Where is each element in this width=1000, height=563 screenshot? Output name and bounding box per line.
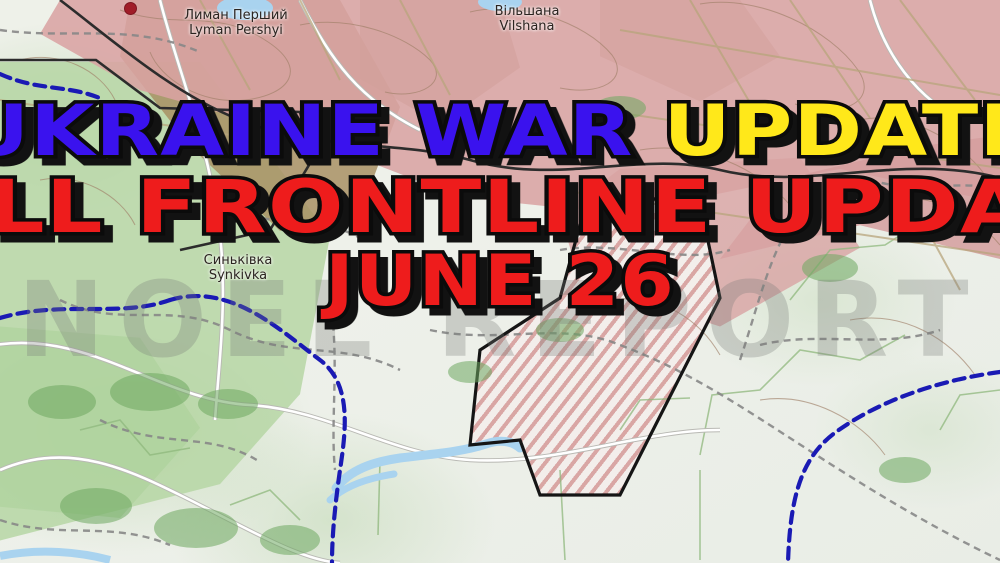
map-label-vilshana-cyrillic: Вільшана xyxy=(462,4,592,19)
map-label-synkivka-latin: Synkivka xyxy=(168,268,308,283)
map-label-lyman-pershyi-latin: Lyman Pershyi xyxy=(156,23,316,38)
map-label-vilshana: Вільшана Vilshana xyxy=(462,4,592,35)
map-label-vilshana-latin: Vilshana xyxy=(462,19,592,34)
poi-marker-icon xyxy=(124,2,137,15)
watermark-noel-report: NOEL REPORT xyxy=(0,268,1000,372)
map-label-lyman-pershyi: Лиман Перший Lyman Pershyi xyxy=(156,8,316,39)
map-label-synkivka-cyrillic: Синьківка xyxy=(168,253,308,268)
map-label-lyman-pershyi-cyrillic: Лиман Перший xyxy=(156,8,316,23)
map-label-synkivka: Синьківка Synkivka xyxy=(168,253,308,284)
thumbnail-canvas: NOEL REPORT Лиман Перший Lyman Pershyi В… xyxy=(0,0,1000,563)
